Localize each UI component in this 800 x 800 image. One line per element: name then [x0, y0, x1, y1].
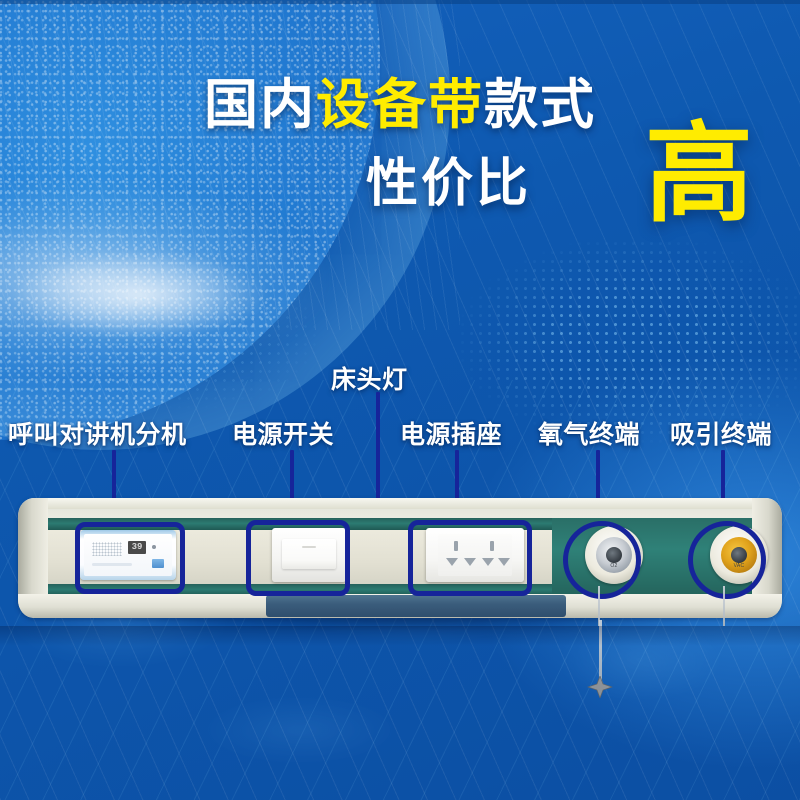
callout-label-bed-lamp: 床头灯	[331, 360, 408, 396]
callout-label-oxygen-terminal: 氧气终端	[538, 415, 640, 451]
headline-part-style: 款式	[484, 75, 596, 135]
callout-label-suction-terminal: 吸引终端	[670, 415, 772, 451]
suction-hose-cord	[723, 586, 725, 626]
headline-part-equipment-belt: 设备带	[316, 75, 484, 135]
highlight-box-intercom	[75, 522, 185, 594]
value-for-money-label: 性价比	[366, 158, 531, 210]
callout-label-intercom: 呼叫对讲机分机	[8, 415, 187, 451]
panel-top-edge	[18, 498, 782, 509]
headline-part-domestic: 国内	[204, 75, 316, 135]
top-edge-bar	[0, 0, 800, 4]
highlight-circle-oxygen	[563, 521, 641, 599]
value-for-money-rating: 高	[645, 120, 753, 228]
callout-label-power-switch: 电源开关	[232, 415, 334, 451]
bed-lamp-diffuser	[266, 595, 566, 617]
highlight-box-power-socket	[408, 520, 532, 596]
highlight-box-power-switch	[246, 520, 350, 596]
callout-label-power-socket: 电源插座	[400, 415, 502, 451]
highlight-circle-suction	[688, 521, 766, 599]
pull-cord-handle-icon[interactable]	[587, 676, 613, 698]
headline-block: 国内设备带款式 性价比 高	[0, 78, 800, 238]
product-banner: 国内设备带款式 性价比 高 呼叫对讲机分机 电源开关 床头灯 电源插座 氧气终端…	[0, 0, 800, 800]
dotted-world-map-left	[40, 250, 340, 420]
panel-wall-shadow	[0, 626, 800, 646]
